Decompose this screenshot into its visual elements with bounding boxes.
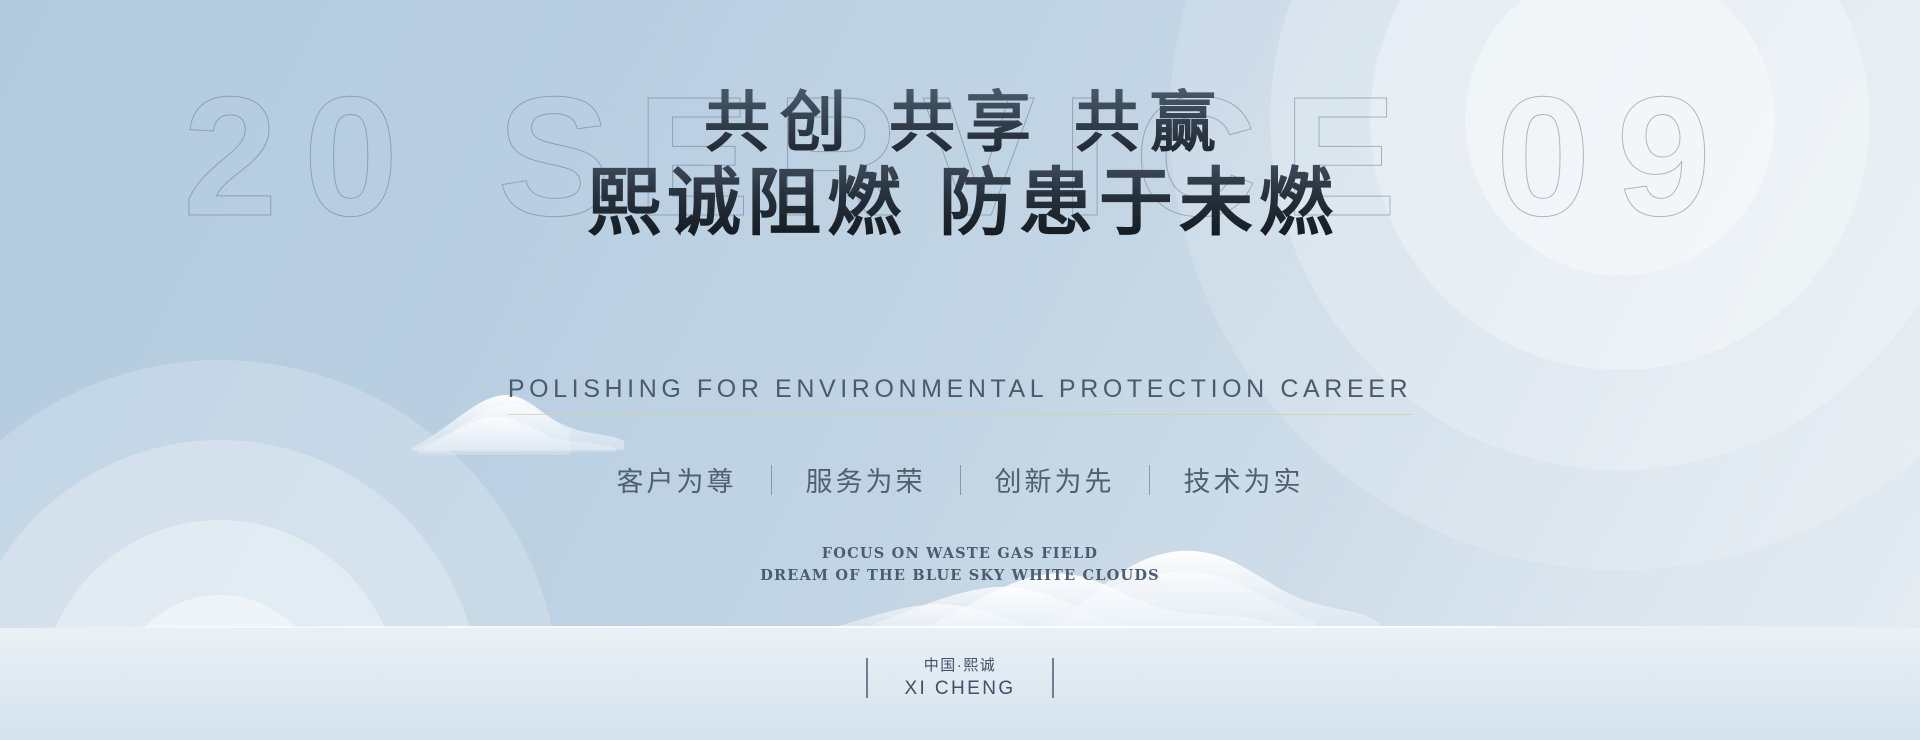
signature-en: XI CHENG <box>904 676 1015 702</box>
micro-tagline-block: FOCUS ON WASTE GAS FIELD DREAM OF THE BL… <box>0 543 1920 588</box>
headline-line-1: 共创 共享 共赢 <box>0 88 1920 158</box>
value-item-2: 服务为荣 <box>772 460 960 499</box>
banner-root: 20 SERVICE 09 <box>0 0 1920 740</box>
values-row: 客户为尊 服务为荣 创新为先 技术为实 <box>0 460 1920 499</box>
value-item-1: 客户为尊 <box>583 460 771 499</box>
signature-text: 中国·熙诚 XI CHENG <box>904 655 1015 702</box>
english-subtitle: POLISHING FOR ENVIRONMENTAL PROTECTION C… <box>508 375 1412 415</box>
signature-block: 中国·熙诚 XI CHENG <box>0 655 1920 702</box>
signature-bar-right <box>1052 658 1054 698</box>
micro-tagline-line-2: DREAM OF THE BLUE SKY WHITE CLOUDS <box>0 565 1920 587</box>
signature-cn: 中国·熙诚 <box>904 655 1015 677</box>
value-item-4: 技术为实 <box>1150 460 1338 499</box>
value-item-3: 创新为先 <box>961 460 1149 499</box>
english-subtitle-block: POLISHING FOR ENVIRONMENTAL PROTECTION C… <box>0 375 1920 415</box>
micro-tagline-line-1: FOCUS ON WASTE GAS FIELD <box>0 543 1920 565</box>
signature-bar-left <box>866 658 868 698</box>
headline-block: 共创 共享 共赢 熙诚阻燃 防患于未燃 <box>0 88 1920 245</box>
headline-line-2: 熙诚阻燃 防患于未燃 <box>0 162 1920 245</box>
horizon-line <box>0 626 1920 628</box>
